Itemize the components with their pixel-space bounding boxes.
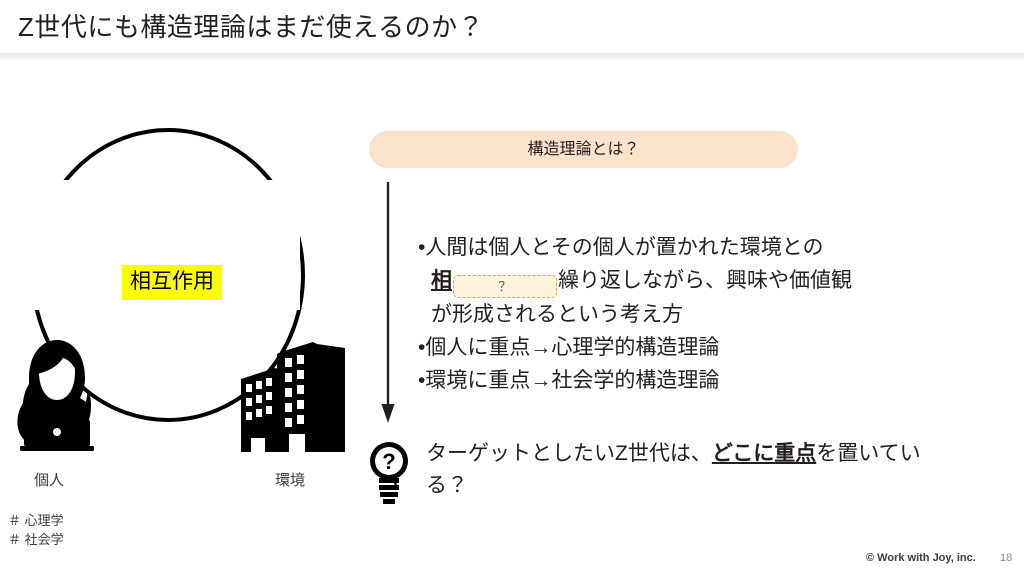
- question-block: ? ターゲットとしたいZ世代は、どこに重点を置いてい る？: [368, 438, 978, 506]
- office-buildings-icon: [237, 334, 349, 456]
- section-header-pill: 構造理論とは？: [369, 131, 798, 168]
- bullet-item-masked: 相？繰り返しながら、興味や価値観: [418, 264, 978, 298]
- question-text-line2: る？: [426, 474, 468, 497]
- question-text-after: を置いてい: [816, 442, 920, 465]
- bullet-text: 環境に重点→社会学的構造理論: [425, 369, 719, 392]
- definition-bullet-list: •人間は個人とその個人が置かれた環境との 相？繰り返しながら、興味や価値観 が形…: [418, 231, 978, 397]
- lightbulb-question-icon: ?: [368, 440, 410, 506]
- bullet-text: が形成されるという考え方: [431, 303, 683, 326]
- copyright-text: © Work with Joy, inc.: [866, 551, 976, 566]
- svg-text:?: ?: [382, 449, 395, 474]
- bullet-text: 個人に重点→心理学的構造理論: [425, 336, 719, 359]
- hashtag-item: ＃ 社会学: [8, 530, 64, 549]
- bullet-text: 人間は個人とその個人が置かれた環境との: [425, 236, 823, 259]
- bullet-item: •環境に重点→社会学的構造理論: [418, 364, 978, 397]
- answer-mask-box[interactable]: ？: [453, 275, 557, 298]
- question-emphasis: どこに重点: [712, 442, 816, 465]
- section-header-label: 構造理論とは？: [527, 139, 639, 161]
- diagram-label-environment: 環境: [275, 471, 305, 491]
- bullet-text-suffix: 繰り返しながら、興味や価値観: [558, 269, 852, 292]
- question-text-before: ターゲットとしたいZ世代は、: [426, 442, 712, 465]
- interaction-diagram: 相互作用: [0, 120, 370, 440]
- woman-at-laptop-icon: [14, 332, 100, 452]
- bullet-item: •人間は個人とその個人が置かれた環境との: [418, 231, 978, 264]
- header-divider: [0, 53, 1024, 60]
- bullet-item: •個人に重点→心理学的構造理論: [418, 331, 978, 364]
- down-arrow-icon: [372, 182, 404, 426]
- page-number: 18: [1000, 551, 1012, 566]
- slide-header: Z世代にも構造理論はまだ使えるのか？: [0, 0, 1024, 53]
- bullet-item-continuation: が形成されるという考え方: [418, 298, 978, 331]
- interaction-label: 相互作用: [122, 265, 222, 300]
- diagram-label-person: 個人: [34, 471, 64, 491]
- question-text: ターゲットとしたいZ世代は、どこに重点を置いてい る？: [426, 438, 978, 502]
- hashtag-list: ＃ 心理学 ＃ 社会学: [8, 511, 64, 549]
- masked-prefix-text: 相: [431, 269, 452, 292]
- hashtag-item: ＃ 心理学: [8, 511, 64, 530]
- page-title: Z世代にも構造理論はまだ使えるのか？: [18, 8, 484, 46]
- slide-root: Z世代にも構造理論はまだ使えるのか？ 相互作用: [0, 0, 1024, 576]
